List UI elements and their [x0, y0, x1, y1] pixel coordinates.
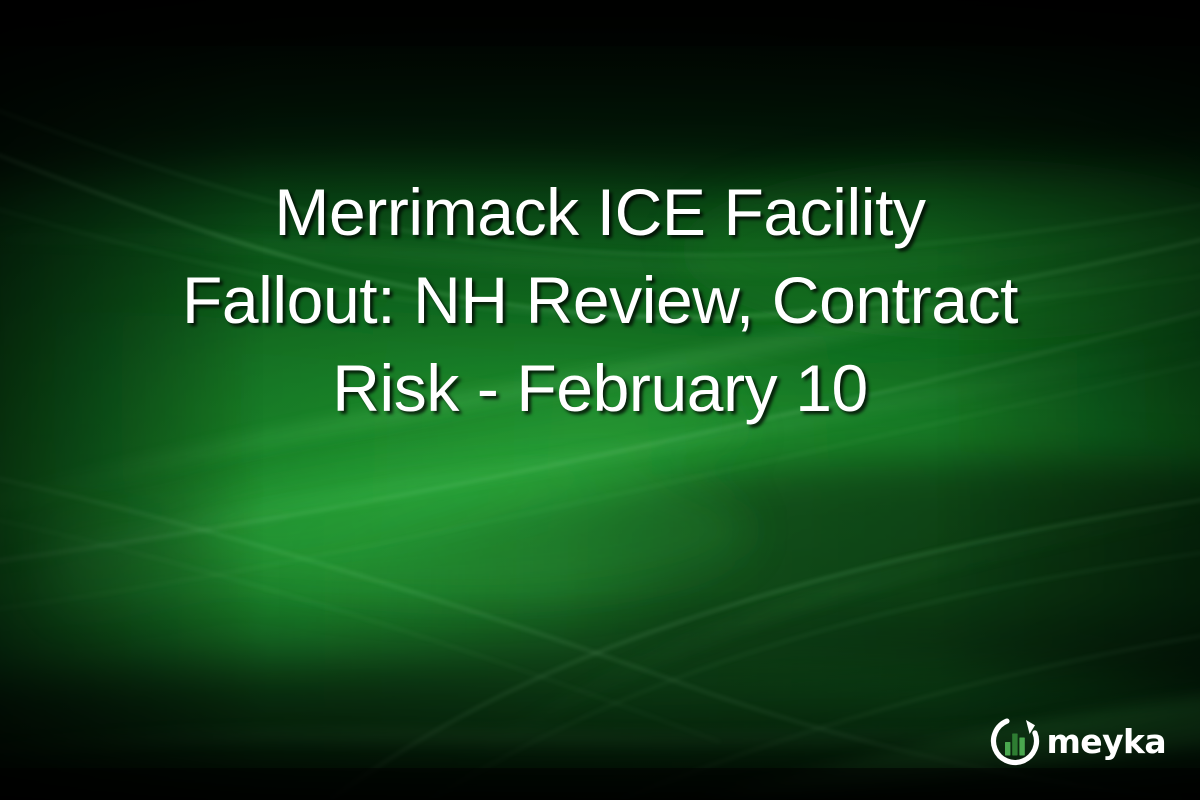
page-title: Merrimack ICE Facility Fallout: NH Revie… — [40, 168, 1160, 432]
headline-block: Merrimack ICE Facility Fallout: NH Revie… — [0, 168, 1200, 432]
bar-chart-in-ring-icon — [990, 716, 1040, 766]
brand-name: meyka — [1047, 725, 1167, 758]
article-cover-card: Merrimack ICE Facility Fallout: NH Revie… — [0, 0, 1200, 800]
meyka-logo-mark — [990, 716, 1040, 766]
brand-lockup[interactable]: meyka — [990, 716, 1167, 766]
